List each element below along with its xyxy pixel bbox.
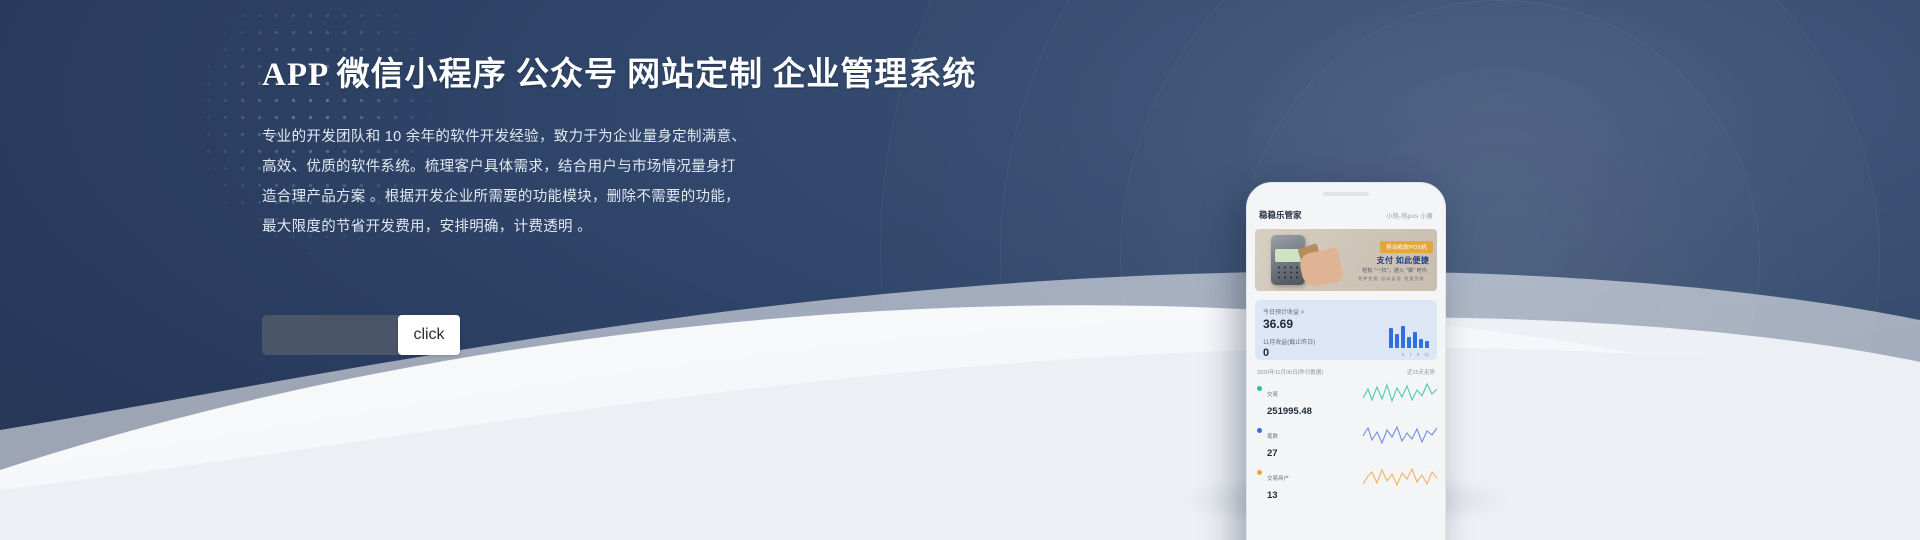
promo-banner[interactable]: 移动收款POS机 支付 如此便捷 轻松 "一扫"，通入 "袋" 时代 免押免租 … [1255,229,1437,291]
stat-label: 笔数 [1267,434,1278,440]
description-line-2: 高效、优质的软件系统。梳理客户具体需求，结合用户与市场情况量身打 [262,152,902,182]
cta-input-bar[interactable] [262,315,400,355]
banner-tertiary: 免押免租 自动返现 急速到账 [1358,276,1425,282]
list-item[interactable]: 笔数 27 [1255,422,1437,464]
stat-label: 交易商户 [1267,476,1289,482]
stat-value: 27 [1267,448,1278,459]
description-line-3: 造合理产品方案 。根据开发企业所需要的功能模块，删除不需要的功能， [262,182,902,212]
stats-list: 交易 251995.48 笔数 27 [1255,380,1437,506]
app-header: 稳稳乐管家 小热-热pos 小黄 [1255,203,1437,229]
page-title: APP 微信小程序 公众号 网站定制 企业管理系统 [262,56,902,96]
data-date-label: 2020年11月05日(昨日数据) [1257,368,1323,376]
sparkline-chart [1363,464,1437,490]
axis-tick: 7 [1409,352,1412,357]
earnings-axis-labels: 57911 [1402,352,1429,357]
phone-mockup: 稳稳乐管家 小热-热pos 小黄 移动收款POS机 支付 如此便捷 轻松 "一扫… [1246,182,1446,540]
earnings-bar-chart [1389,322,1429,348]
hero-copy: APP 微信小程序 公众号 网站定制 企业管理系统 专业的开发团队和 10 余年… [262,56,902,242]
banner-headline: 支付 如此便捷 [1377,255,1429,266]
today-earnings-label[interactable]: 今日预计收益 > [1263,307,1429,316]
hero-description: 专业的开发团队和 10 余年的软件开发经验，致力于为企业量身定制满意、 高效、优… [262,122,902,242]
bar [1425,341,1429,348]
data-summary-row: 2020年11月05日(昨日数据) 近15天走势 [1255,360,1437,380]
axis-tick: 5 [1402,352,1405,357]
axis-tick: 9 [1417,352,1420,357]
bar [1389,328,1393,348]
description-line-1: 专业的开发团队和 10 余年的软件开发经验，致力于为企业量身定制满意、 [262,122,902,152]
trend-label: 近15天走势 [1407,368,1435,376]
axis-tick: 11 [1424,352,1429,357]
list-item[interactable]: 交易 251995.48 [1255,380,1437,422]
description-line-4: 最大限度的节省开发费用，安排明确，计费透明 。 [262,212,902,242]
bar [1407,337,1411,348]
bar [1419,339,1423,348]
bar [1401,326,1405,348]
status-dot-icon [1257,470,1262,475]
sparkline-chart [1363,422,1437,448]
click-button[interactable]: click [398,315,460,355]
list-item[interactable]: 交易商户 13 [1255,464,1437,506]
cta-group[interactable]: click [262,315,460,355]
bar [1395,334,1399,348]
status-dot-icon [1257,428,1262,433]
earnings-card[interactable]: 今日预计收益 > 36.69 11月收益(截止昨日) 0 57911 [1255,300,1437,360]
phone-screen: 稳稳乐管家 小热-热pos 小黄 移动收款POS机 支付 如此便捷 轻松 "一扫… [1255,203,1437,540]
phone-speaker [1323,192,1369,196]
status-dot-icon [1257,386,1262,391]
banner-subline: 轻松 "一扫"，通入 "袋" 时代 [1362,267,1427,274]
bar [1413,332,1417,348]
hero-banner: APP 微信小程序 公众号 网站定制 企业管理系统 专业的开发团队和 10 余年… [0,0,1920,540]
stat-value: 13 [1267,490,1278,501]
stat-label: 交易 [1267,392,1278,398]
app-user-label: 小热-热pos 小黄 [1386,210,1433,220]
sparkline-chart [1363,380,1437,406]
app-title: 稳稳乐管家 [1259,209,1302,221]
banner-tag: 移动收款POS机 [1380,241,1433,253]
stat-value: 251995.48 [1267,406,1312,417]
